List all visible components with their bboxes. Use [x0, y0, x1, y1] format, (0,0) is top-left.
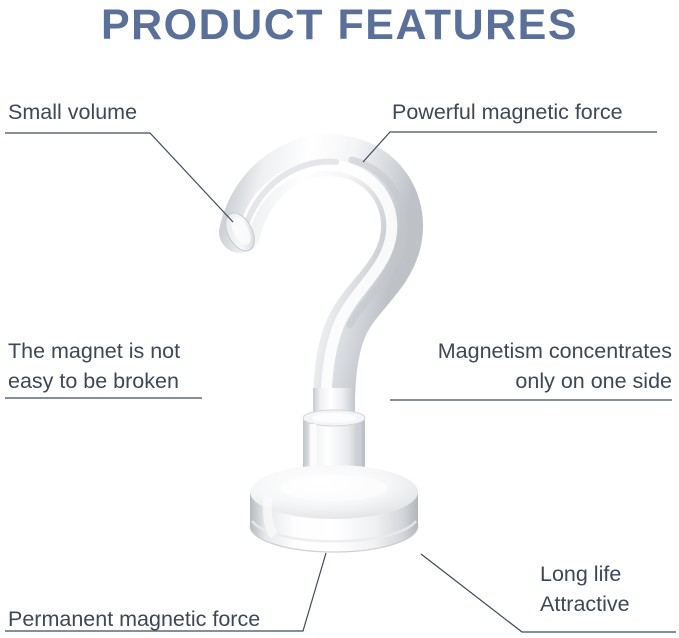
leader-line-long-life-attractive [421, 554, 676, 632]
leader-line-powerful-magnetic-force [363, 132, 657, 162]
leader-line-small-volume [5, 133, 233, 222]
leader-lines [0, 0, 679, 638]
leader-line-permanent-magnetic-force [5, 553, 326, 631]
product-features-infographic: PRODUCT FEATURES [0, 0, 679, 638]
